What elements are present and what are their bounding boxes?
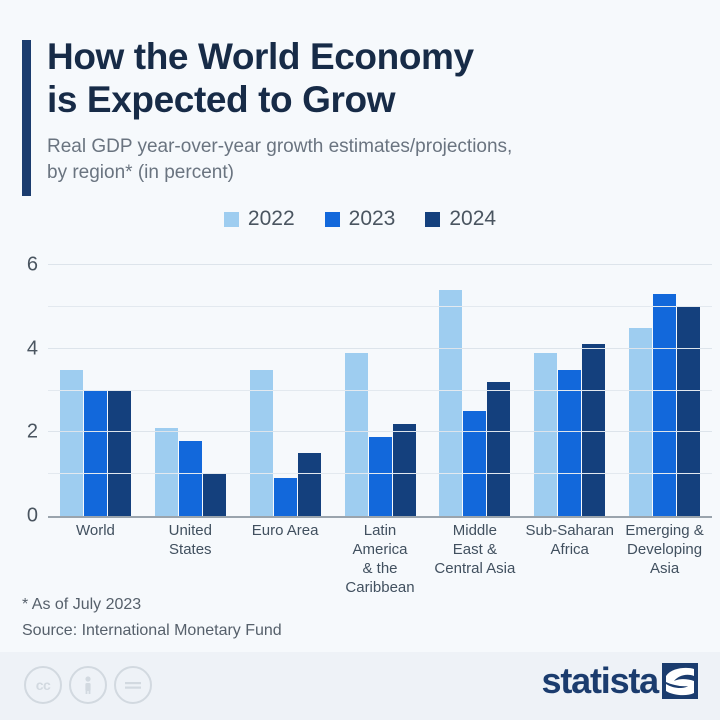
- bar-2022[interactable]: [345, 353, 368, 516]
- bar-2023[interactable]: [274, 478, 297, 516]
- creative-commons-icons: cc: [24, 666, 152, 704]
- bar-chart: 0246: [0, 250, 720, 520]
- page-subtitle: Real GDP year-over-year growth estimates…: [47, 121, 720, 186]
- bar-2023[interactable]: [179, 441, 202, 516]
- statista-logo: statista: [542, 663, 698, 699]
- gridline-5: [48, 306, 712, 307]
- page-title: How the World Economy is Expected to Gro…: [47, 34, 720, 121]
- x-axis-labels: WorldUnited StatesEuro AreaLatin America…: [48, 521, 712, 597]
- x-axis-label: World: [48, 521, 143, 597]
- bar-2024[interactable]: [487, 382, 510, 516]
- legend-swatch-2023: [325, 212, 340, 227]
- bar-2022[interactable]: [439, 290, 462, 516]
- bar-2022[interactable]: [629, 328, 652, 516]
- gridline-4: [48, 348, 712, 349]
- x-axis-label: Latin America & the Caribbean: [333, 521, 428, 597]
- accent-bar: [22, 40, 31, 196]
- bar-group: [143, 265, 238, 516]
- statista-mark-icon: [662, 663, 698, 699]
- bar-2024[interactable]: [298, 453, 321, 516]
- plot-area: 0246: [48, 265, 712, 518]
- bar-2024[interactable]: [108, 391, 131, 517]
- y-axis-tick-6: 6: [27, 254, 38, 277]
- bar-2024[interactable]: [677, 307, 700, 516]
- bar-2023[interactable]: [84, 391, 107, 517]
- legend-item-2023[interactable]: 2023: [325, 207, 396, 231]
- y-axis-tick-4: 4: [27, 337, 38, 360]
- bar-2024[interactable]: [203, 474, 226, 516]
- bar-group: [48, 265, 143, 516]
- source-note: Source: International Monetary Fund: [22, 618, 282, 644]
- footer-bar: cc statista: [0, 652, 720, 720]
- bar-2022[interactable]: [250, 370, 273, 516]
- legend-label-2023: 2023: [349, 207, 396, 231]
- x-axis-label: Euro Area: [238, 521, 333, 597]
- legend-swatch-2024: [425, 212, 440, 227]
- bar-2022[interactable]: [60, 370, 83, 516]
- bar-2022[interactable]: [155, 428, 178, 516]
- header: How the World Economy is Expected to Gro…: [0, 34, 720, 186]
- bar-group: [427, 265, 522, 516]
- gridline-1: [48, 473, 712, 474]
- bar-2024[interactable]: [582, 344, 605, 516]
- x-axis-label: Middle East & Central Asia: [427, 521, 522, 597]
- gridline-2: [48, 431, 712, 432]
- bar-group: [333, 265, 428, 516]
- x-axis-line: [48, 516, 712, 518]
- x-axis-label: Emerging & Developing Asia: [617, 521, 712, 597]
- y-axis-tick-2: 2: [27, 421, 38, 444]
- legend-swatch-2022: [224, 212, 239, 227]
- bar-2022[interactable]: [534, 353, 557, 516]
- bar-groups: [48, 265, 712, 516]
- chart-legend: 202220232024: [0, 207, 720, 231]
- bar-group: [522, 265, 617, 516]
- asterisk-note: * As of July 2023: [22, 592, 282, 618]
- legend-label-2024: 2024: [449, 207, 496, 231]
- legend-label-2022: 2022: [248, 207, 295, 231]
- bar-group: [238, 265, 333, 516]
- cc-icon-label: cc: [36, 677, 51, 693]
- y-axis-tick-0: 0: [27, 505, 38, 528]
- bar-2023[interactable]: [558, 370, 581, 516]
- x-axis-label: United States: [143, 521, 238, 597]
- bar-2023[interactable]: [369, 437, 392, 516]
- cc-by-person-icon: [69, 666, 107, 704]
- legend-item-2022[interactable]: 2022: [224, 207, 295, 231]
- footnotes: * As of July 2023 Source: International …: [22, 592, 282, 644]
- bar-2023[interactable]: [463, 411, 486, 516]
- statista-wordmark: statista: [542, 663, 658, 699]
- x-axis-label: Sub-Saharan Africa: [522, 521, 617, 597]
- bar-2023[interactable]: [653, 294, 676, 516]
- cc-icon: cc: [24, 666, 62, 704]
- bar-group: [617, 265, 712, 516]
- cc-nd-equals-icon: [114, 666, 152, 704]
- gridline-6: [48, 264, 712, 265]
- gridline-3: [48, 390, 712, 391]
- legend-item-2024[interactable]: 2024: [425, 207, 496, 231]
- infographic-canvas: How the World Economy is Expected to Gro…: [0, 0, 720, 720]
- bar-2024[interactable]: [393, 424, 416, 516]
